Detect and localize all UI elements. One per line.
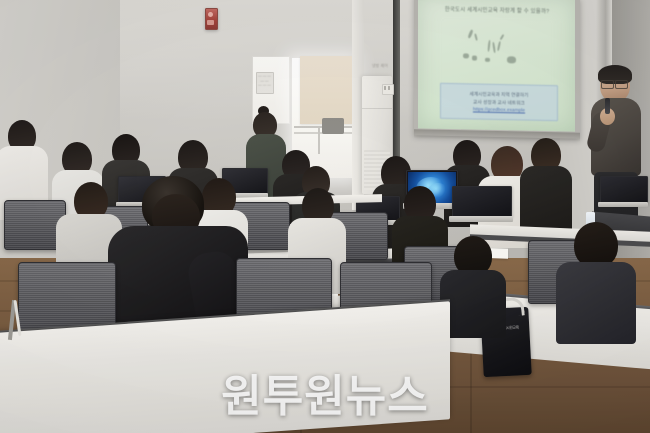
laptop-dark-screen-3[interactable]	[600, 176, 646, 212]
glasses-lens-right-icon	[615, 80, 628, 89]
classroom-seminar-photo: — — —— —— — — 냉방 제어 한국도시 세계시민교육 자랑계 할 수 …	[0, 0, 650, 433]
slide-callout-link: https://gcedbox.example	[473, 107, 525, 113]
slide-callout-box: 세계시민교육과 지역 연결하기 교사 성장과 교사 네트워크 https://g…	[440, 83, 558, 121]
laptop-dark-screen[interactable]	[452, 186, 510, 226]
laptop-keyboard-base[interactable]	[598, 202, 648, 207]
wall-outlet-slot-icon	[384, 86, 386, 90]
fire-alarm-button-icon	[207, 20, 214, 25]
slide-callout-line-1: 세계시민교육과 지역 연결하기	[470, 91, 529, 98]
laptop-keyboard-base[interactable]	[449, 216, 513, 222]
outdoor-object	[322, 118, 344, 134]
wall-notice-text: — — —— —— — —	[257, 74, 272, 88]
wall-outlet-slot-icon	[388, 86, 390, 90]
slide-callout-line-2: 교사 성장과 교사 네트워크	[473, 99, 525, 106]
microphone-icon	[605, 98, 610, 114]
glasses-lens-left-icon	[601, 80, 614, 89]
slide-figure	[455, 27, 535, 77]
attendee-body	[556, 262, 636, 344]
fire-alarm-led-icon	[208, 12, 213, 17]
laptop-screen	[452, 186, 512, 218]
attendee-front-right-1	[556, 222, 636, 342]
ac-unit-seam	[362, 108, 392, 109]
laptop-screen	[600, 176, 648, 204]
window-blind	[300, 56, 356, 124]
ac-unit-label: 냉방 제어	[370, 64, 390, 69]
